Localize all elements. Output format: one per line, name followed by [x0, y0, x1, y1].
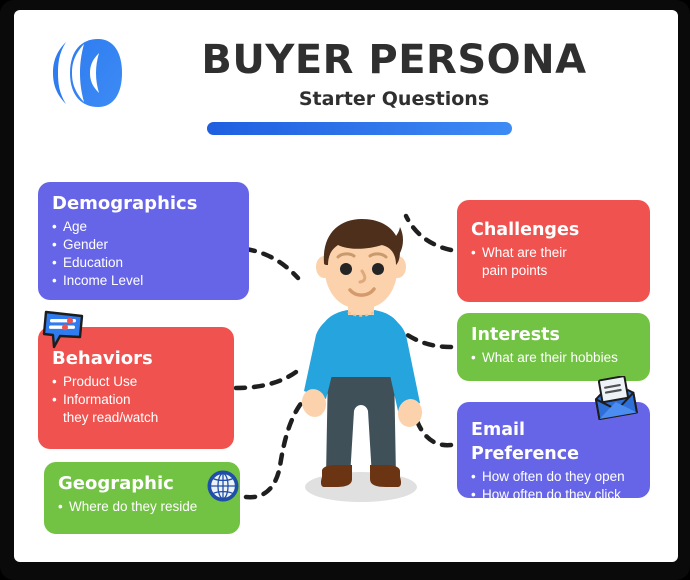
title-block: BUYER PERSONA Starter Questions — [134, 38, 654, 110]
card-bullet-list: What are their pain points — [471, 244, 636, 279]
list-item: How often do they open — [471, 468, 636, 485]
card-challenges[interactable]: Challenges What are their pain points — [457, 200, 650, 302]
list-item: Product Use — [52, 373, 220, 390]
page-subtitle: Starter Questions — [134, 88, 654, 110]
card-demographics[interactable]: Demographics Age Gender Education Income… — [38, 182, 249, 300]
buyer-persona-character — [286, 215, 436, 510]
card-title: Demographics — [52, 192, 235, 216]
page-title: BUYER PERSONA — [134, 38, 654, 82]
list-item: What are their hobbies — [471, 349, 636, 366]
card-title: Geographic — [58, 472, 226, 496]
envelope-icon — [590, 376, 640, 420]
list-item: Information — [52, 391, 220, 408]
card-bullet-list: How often do they open How often do they… — [471, 468, 636, 503]
card-interests[interactable]: Interests What are their hobbies — [457, 313, 650, 381]
list-item: What are their — [471, 244, 636, 261]
card-title: Behaviors — [52, 347, 220, 371]
list-item-continuation: pain points — [471, 262, 636, 279]
concentric-arcs-logo-icon — [50, 36, 126, 110]
card-title: Interests — [471, 323, 636, 347]
list-item: How often do they click — [471, 486, 636, 503]
list-item: Income Level — [52, 272, 235, 289]
header: BUYER PERSONA Starter Questions — [14, 10, 678, 150]
card-bullet-list: Age Gender Education Income Level — [52, 218, 235, 289]
list-item: Where do they reside — [58, 498, 226, 515]
list-item: Gender — [52, 236, 235, 253]
infographic-root: BUYER PERSONA Starter Questions — [0, 0, 690, 580]
list-item: Education — [52, 254, 235, 271]
infographic-canvas: BUYER PERSONA Starter Questions — [14, 10, 678, 562]
list-item-continuation: they read/watch — [52, 409, 220, 426]
card-bullet-list: Product Use Information they read/watch — [52, 373, 220, 426]
chat-bubble-icon — [40, 309, 86, 349]
list-item: Age — [52, 218, 235, 235]
globe-icon — [206, 469, 240, 503]
card-title: Challenges — [471, 218, 636, 242]
accent-bar — [207, 122, 512, 135]
card-bullet-list: What are their hobbies — [471, 349, 636, 366]
card-bullet-list: Where do they reside — [58, 498, 226, 515]
card-title: Email Preference — [471, 418, 636, 466]
